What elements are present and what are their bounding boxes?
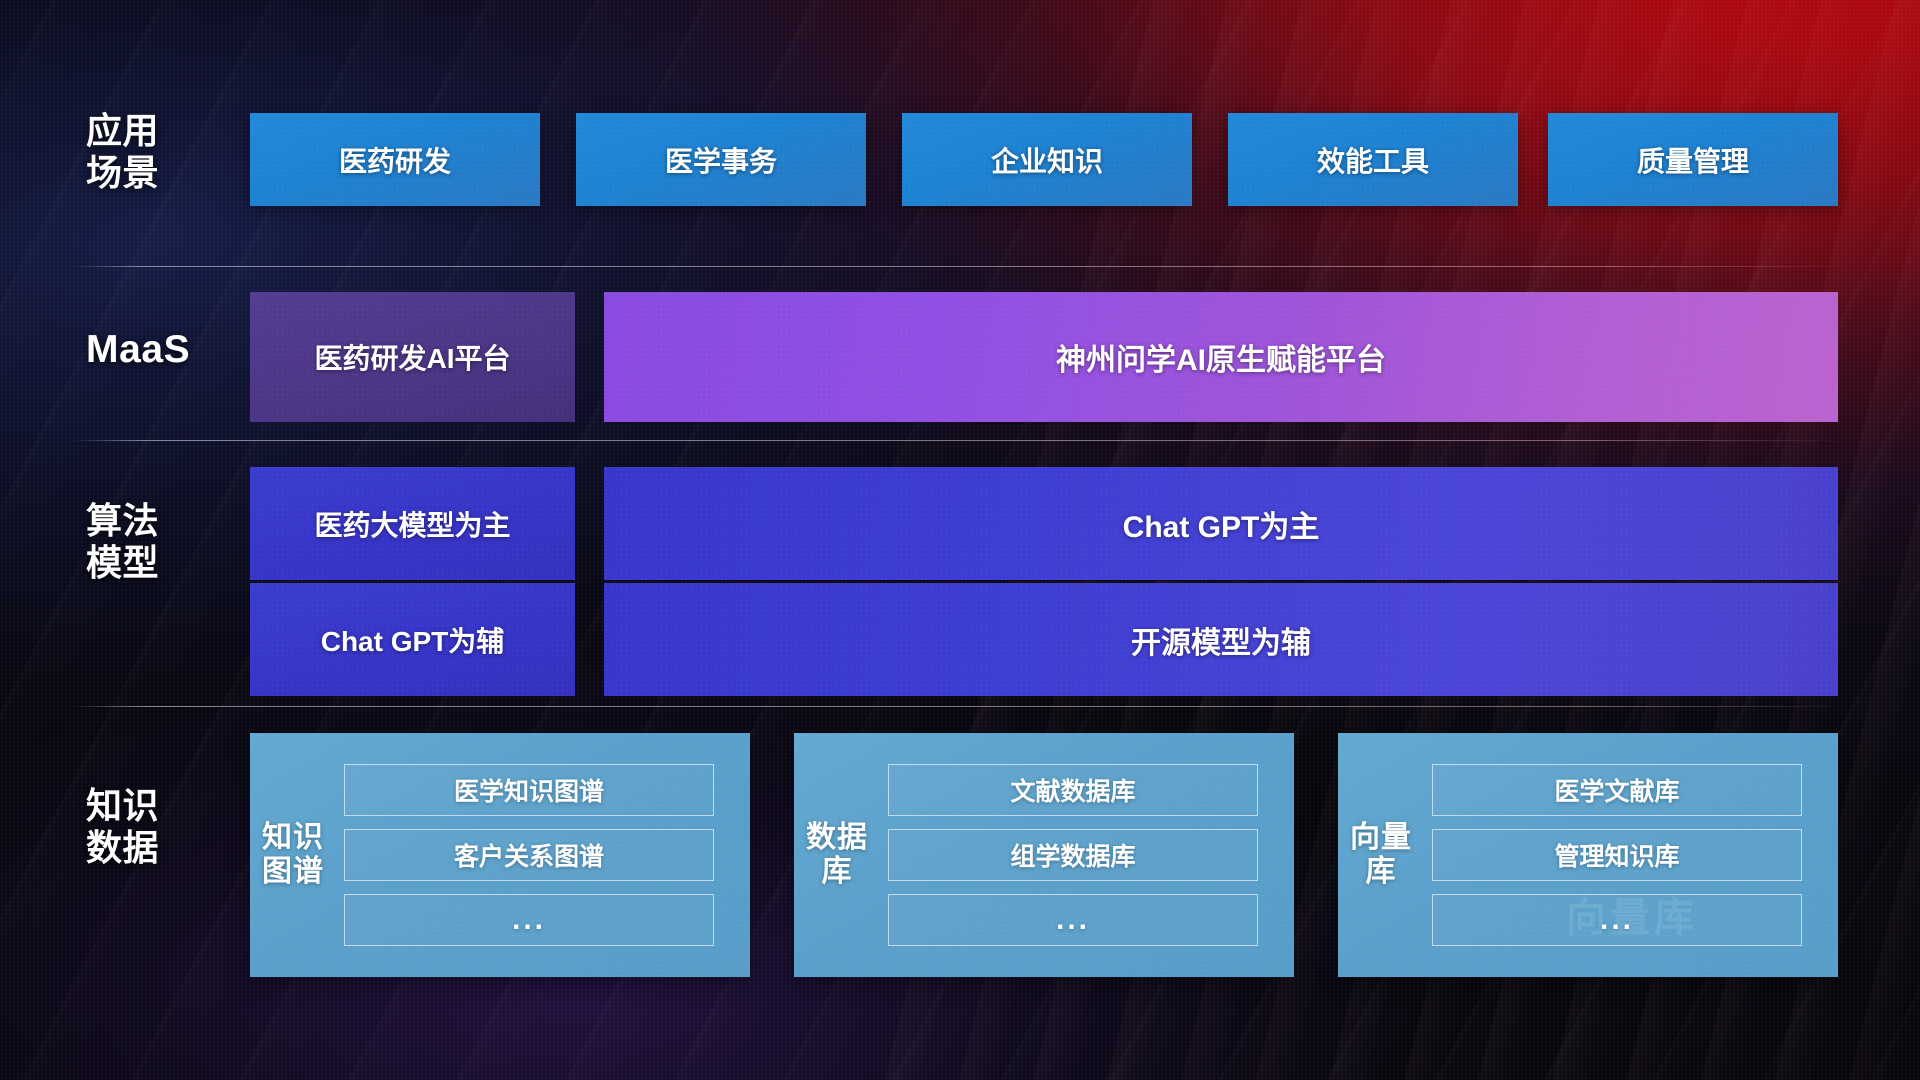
algo-box-label: 开源模型为辅 [1131, 618, 1311, 662]
knowledge-card-item-list: 医学文献库 管理知识库 ... [1424, 733, 1838, 977]
algo-box-label: Chat GPT为主 [1123, 502, 1320, 546]
app-box-medical-affairs[interactable]: 医学事务 [576, 113, 866, 206]
knowledge-card-knowledge-graph[interactable]: 知识图谱 医学知识图谱 客户关系图谱 ... [250, 733, 750, 977]
maas-box-shenzhou-wenxue-platform[interactable]: 神州问学AI原生赋能平台 [604, 292, 1838, 422]
knowledge-item[interactable]: 文献数据库 [888, 764, 1258, 816]
app-box-enterprise-knowledge[interactable]: 企业知识 [902, 113, 1192, 206]
row-label-knowledge-line1: 知识 [86, 785, 236, 827]
knowledge-item[interactable]: 医学知识图谱 [344, 764, 714, 816]
knowledge-card-item-list: 文献数据库 组学数据库 ... [880, 733, 1294, 977]
row-label-application-line2: 场景 [86, 152, 236, 194]
knowledge-item[interactable]: 医学文献库 [1432, 764, 1802, 816]
algo-box-label: 医药大模型为主 [314, 504, 510, 544]
algo-box-medicine-llm-primary[interactable]: 医药大模型为主 [250, 467, 575, 580]
row-label-maas: MaaS [86, 327, 236, 372]
maas-right-label: 神州问学AI原生赋能平台 [1056, 335, 1386, 379]
app-box-label: 医药研发 [339, 140, 451, 180]
app-box-label: 医学事务 [665, 140, 777, 180]
row-label-algorithm: 算法 模型 [86, 500, 236, 584]
knowledge-item[interactable]: 管理知识库 [1432, 829, 1802, 881]
knowledge-card-vector-store[interactable]: 向量库 医学文献库 管理知识库 ... 向量库 [1338, 733, 1838, 977]
app-box-label: 质量管理 [1637, 140, 1749, 180]
maas-left-label: 医药研发AI平台 [314, 337, 510, 377]
knowledge-card-side-label: 向量库 [1338, 733, 1424, 977]
row-label-algorithm-line2: 模型 [86, 542, 236, 584]
row-label-knowledge: 知识 数据 [86, 785, 236, 869]
row-label-application: 应用 场景 [86, 110, 236, 194]
algo-box-chatgpt-primary[interactable]: Chat GPT为主 [604, 467, 1838, 580]
knowledge-card-database[interactable]: 数据库 文献数据库 组学数据库 ... [794, 733, 1294, 977]
app-box-efficiency-tools[interactable]: 效能工具 [1228, 113, 1518, 206]
divider-maas-algorithm [72, 440, 1848, 441]
app-box-label: 企业知识 [991, 140, 1103, 180]
row-label-algorithm-line1: 算法 [86, 500, 236, 542]
app-box-quality-management[interactable]: 质量管理 [1548, 113, 1838, 206]
app-box-medicine-rnd[interactable]: 医药研发 [250, 113, 540, 206]
algo-box-chatgpt-secondary[interactable]: Chat GPT为辅 [250, 583, 575, 696]
maas-box-medicine-ai-platform[interactable]: 医药研发AI平台 [250, 292, 575, 422]
knowledge-item-more[interactable]: ... [888, 894, 1258, 946]
knowledge-card-side-label: 数据库 [794, 733, 880, 977]
algo-box-label: Chat GPT为辅 [321, 620, 505, 660]
divider-algorithm-knowledge [72, 706, 1848, 707]
row-label-application-line1: 应用 [86, 110, 236, 152]
algo-box-opensource-secondary[interactable]: 开源模型为辅 [604, 583, 1838, 696]
knowledge-item-more[interactable]: ... [1432, 894, 1802, 946]
knowledge-item[interactable]: 客户关系图谱 [344, 829, 714, 881]
divider-application-maas [72, 266, 1848, 267]
app-box-label: 效能工具 [1317, 140, 1429, 180]
knowledge-item[interactable]: 组学数据库 [888, 829, 1258, 881]
slide-canvas: 应用 场景 医药研发 医学事务 企业知识 效能工具 质量管理 MaaS 医药研发… [0, 0, 1920, 1080]
knowledge-item-more[interactable]: ... [344, 894, 714, 946]
knowledge-card-item-list: 医学知识图谱 客户关系图谱 ... [336, 733, 750, 977]
architecture-diagram: 应用 场景 医药研发 医学事务 企业知识 效能工具 质量管理 MaaS 医药研发… [0, 0, 1920, 1080]
knowledge-card-side-label: 知识图谱 [250, 733, 336, 977]
row-label-knowledge-line2: 数据 [86, 827, 236, 869]
